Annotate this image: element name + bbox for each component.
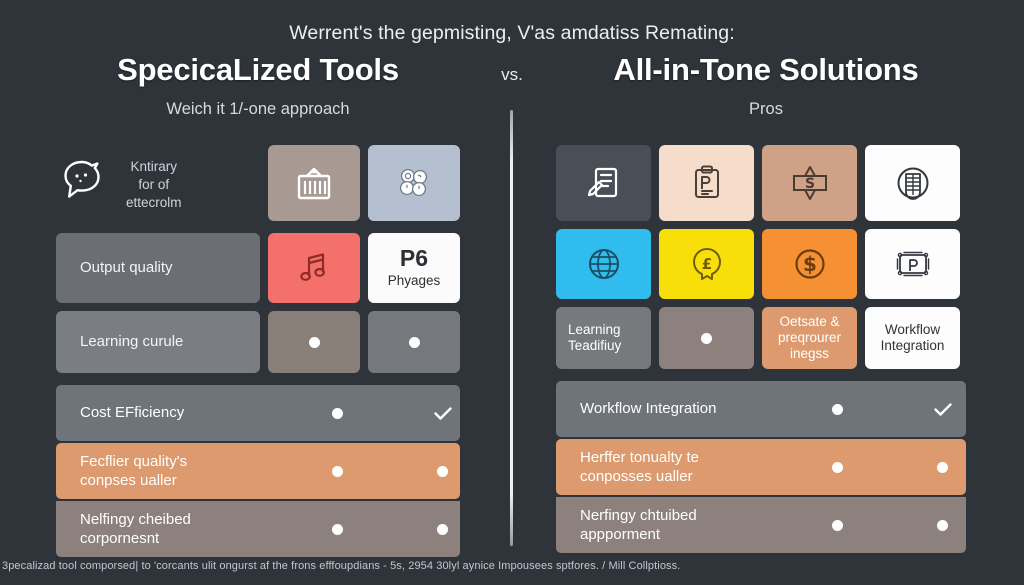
compare-cell-1: [785, 520, 890, 531]
dot-icon: [832, 520, 843, 531]
compare-row-highlight[interactable]: Fecflier quality's conpses ualler: [56, 443, 460, 499]
compare-cell-1: [785, 404, 890, 415]
left-subtitle: Weich it 1/-one approach: [40, 100, 476, 119]
tile-outsource-line-2: preqrourer: [778, 330, 841, 346]
slide-canvas: Werrent's the gepmisting, V'as amdatiss …: [0, 0, 1024, 585]
tile-workflow-integration-label[interactable]: Workflow Integration: [865, 307, 960, 369]
left-column: Kntirary for of ettecrolm: [56, 145, 460, 559]
bubble-block: Kntirary for of ettecrolm: [56, 145, 260, 225]
bubble-line-1: Kntirary: [131, 159, 178, 174]
tile-coins-group[interactable]: [368, 145, 460, 221]
dot-icon: [409, 337, 420, 348]
right-tile-grid: S: [556, 145, 966, 369]
compare-row-label: Workflow Integration: [580, 399, 785, 419]
compare-row-cost-efficiency[interactable]: Cost EFficiency: [56, 385, 460, 441]
right-column: S: [556, 145, 966, 555]
document-edit-icon: [583, 162, 625, 204]
coins-group-icon: [393, 162, 435, 204]
tile-dot-b[interactable]: [368, 311, 460, 373]
right-compare-rows: Workflow Integration Herffer tonualty te…: [556, 381, 966, 553]
compare-cell-1: [285, 408, 390, 419]
compare-row-label: Cost EFficiency: [80, 403, 285, 423]
tile-globe-badge[interactable]: [865, 145, 960, 221]
bubble-line-3: ettecrolm: [126, 195, 182, 210]
ballot-box-icon: [293, 162, 335, 204]
left-row-1: Kntirary for of ettecrolm: [56, 145, 460, 225]
compare-cell-2: [390, 407, 495, 420]
tile-learning-label[interactable]: Learning Teadifiuy: [556, 307, 651, 369]
tile-dollar-circle[interactable]: $: [762, 229, 857, 299]
compare-row-workflow-integration[interactable]: Workflow Integration: [556, 381, 966, 437]
pound-coin-icon: £: [687, 244, 727, 284]
svg-text:£: £: [701, 255, 711, 273]
frame-p-icon: [892, 244, 934, 284]
music-note-icon: [294, 248, 334, 288]
bubble-wrap: Kntirary for of ettecrolm: [56, 145, 182, 225]
center-divider: [510, 110, 513, 546]
dot-icon: [832, 462, 843, 473]
dot-icon: [437, 466, 448, 477]
label-output-quality[interactable]: Output quality: [56, 233, 260, 303]
compare-row-last[interactable]: Nerfingy chtuibed appporment: [556, 497, 966, 553]
tile-workflow-line-2: Integration: [881, 338, 945, 354]
ghost-speech-bubble-icon: [56, 156, 108, 214]
compare-cell-2: [890, 462, 995, 473]
tile-p6-label: Phyages: [388, 273, 441, 290]
tile-workflow-line-1: Workflow: [885, 322, 940, 338]
tile-dot-a[interactable]: [268, 311, 360, 373]
compare-cell-2: [390, 466, 495, 477]
dot-icon: [332, 524, 343, 535]
right-title: All-in-Tone Solutions: [548, 52, 984, 88]
dot-icon: [832, 404, 843, 415]
compare-row-label: Nelfingy cheibed corpornesnt: [80, 510, 285, 549]
dollar-circle-icon: $: [790, 244, 830, 284]
clipboard-p-icon: [686, 162, 728, 204]
tile-p6[interactable]: P6 Phyages: [368, 233, 460, 303]
tile-dot-c[interactable]: [659, 307, 754, 369]
compare-cell-1: [285, 466, 390, 477]
footer-caption: 3pecalizad tool comporsed| to 'corcants …: [0, 560, 1024, 572]
tile-money-s[interactable]: S: [762, 145, 857, 221]
tile-outsource-line-1: Oetsate &: [779, 314, 839, 330]
left-row-3: Learning curule: [56, 311, 460, 373]
compare-row-label: Nerfingy chtuibed appporment: [580, 506, 785, 545]
left-row-2: Output quality P6 Phyages: [56, 233, 460, 303]
tile-frame-p[interactable]: [865, 229, 960, 299]
tile-ballot-box[interactable]: [268, 145, 360, 221]
dot-icon: [309, 337, 320, 348]
vs-label: vs.: [476, 65, 548, 85]
svg-text:$: $: [803, 252, 817, 276]
check-icon: [934, 403, 952, 416]
headline-row: SpecicaLized Tools vs. All-in-Tone Solut…: [0, 52, 1024, 88]
label-learning-curve[interactable]: Learning curule: [56, 311, 260, 373]
compare-cell-2: [890, 520, 995, 531]
right-subtitle: Pros: [548, 100, 984, 119]
dot-icon: [332, 466, 343, 477]
left-compare-rows: Cost EFficiency Fecflier quality's conps…: [56, 385, 460, 557]
bubble-line-2: for of: [138, 177, 169, 192]
tile-p6-value: P6: [400, 246, 428, 270]
check-icon: [434, 407, 452, 420]
tile-learning-line-1: Learning: [568, 322, 621, 338]
tile-globe[interactable]: [556, 229, 651, 299]
compare-cell-1: [785, 462, 890, 473]
bubble-caption: Kntirary for of ettecrolm: [126, 158, 182, 213]
tile-outsource-line-3: inegss: [790, 346, 829, 362]
eyebrow-text: Werrent's the gepmisting, V'as amdatiss …: [0, 22, 1024, 45]
left-title: SpecicaLized Tools: [40, 52, 476, 88]
globe-icon: [584, 244, 624, 284]
compare-cell-1: [285, 524, 390, 535]
tile-music[interactable]: [268, 233, 360, 303]
compare-row-label: Herffer tonualty te conposses ualler: [580, 448, 785, 487]
money-s-icon: S: [788, 162, 832, 204]
dot-icon: [437, 524, 448, 535]
dot-icon: [937, 520, 948, 531]
compare-cell-2: [890, 403, 995, 416]
dot-icon: [332, 408, 343, 419]
tile-document-edit[interactable]: [556, 145, 651, 221]
compare-cell-2: [390, 524, 495, 535]
tile-outsource-label[interactable]: Oetsate & preqrourer inegss: [762, 307, 857, 369]
tile-clipboard-p[interactable]: [659, 145, 754, 221]
tile-learning-line-2: Teadifiuy: [568, 338, 621, 354]
globe-badge-icon: [892, 162, 934, 204]
compare-row-label: Fecflier quality's conpses ualler: [80, 452, 285, 491]
tile-pound-coin[interactable]: £: [659, 229, 754, 299]
dot-icon: [937, 462, 948, 473]
dot-icon: [701, 333, 712, 344]
compare-row-last[interactable]: Nelfingy cheibed corpornesnt: [56, 501, 460, 557]
svg-text:S: S: [804, 176, 814, 192]
compare-row-highlight[interactable]: Herffer tonualty te conposses ualler: [556, 439, 966, 495]
